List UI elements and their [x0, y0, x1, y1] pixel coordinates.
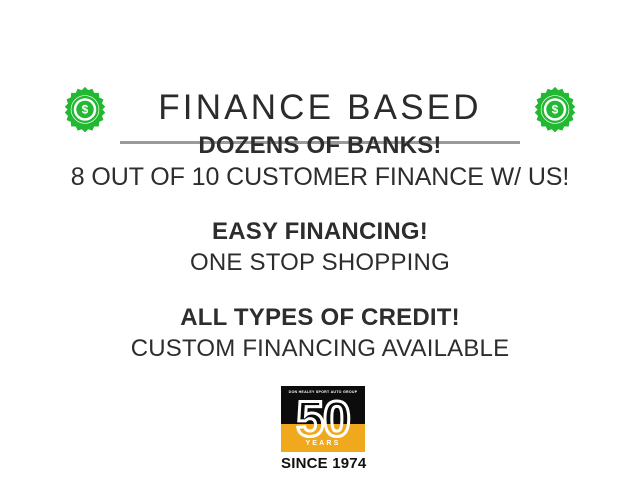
gear-dollar-icon: $	[532, 86, 578, 132]
page-title: FINANCE BASED	[120, 88, 520, 128]
logo-mark: DON HEALEY SPORT AUTO GROUP 50 YEARS	[281, 386, 365, 452]
logo-since-label: SINCE 1974	[281, 455, 365, 472]
benefit-headline: EASY FINANCING!	[0, 217, 640, 247]
finance-based-slide: $ FINANCE BASED $ DOZENS OF BANKS! 8 OUT…	[0, 0, 640, 480]
benefit-subline: CUSTOM FINANCING AVAILABLE	[0, 333, 640, 365]
logo-years-label: YEARS	[281, 440, 365, 448]
gear-dollar-icon: $	[62, 86, 108, 132]
dealer-logo: DON HEALEY SPORT AUTO GROUP 50 YEARS SIN…	[281, 386, 365, 472]
benefit-subline: 8 OUT OF 10 CUSTOMER FINANCE W/ US!	[0, 161, 640, 193]
svg-text:$: $	[552, 102, 559, 116]
benefit-headline: ALL TYPES OF CREDIT!	[0, 303, 640, 333]
svg-text:$: $	[82, 102, 89, 116]
logo-anniversary-number: 50	[281, 394, 365, 444]
benefits-copy: DOZENS OF BANKS! 8 OUT OF 10 CUSTOMER FI…	[0, 131, 640, 365]
benefit-headline: DOZENS OF BANKS!	[0, 131, 640, 161]
benefit-block: EASY FINANCING! ONE STOP SHOPPING	[0, 217, 640, 279]
benefit-subline: ONE STOP SHOPPING	[0, 247, 640, 279]
benefit-block: ALL TYPES OF CREDIT! CUSTOM FINANCING AV…	[0, 303, 640, 365]
slide-header: $ FINANCE BASED $	[0, 40, 640, 115]
benefit-block: DOZENS OF BANKS! 8 OUT OF 10 CUSTOMER FI…	[0, 131, 640, 193]
